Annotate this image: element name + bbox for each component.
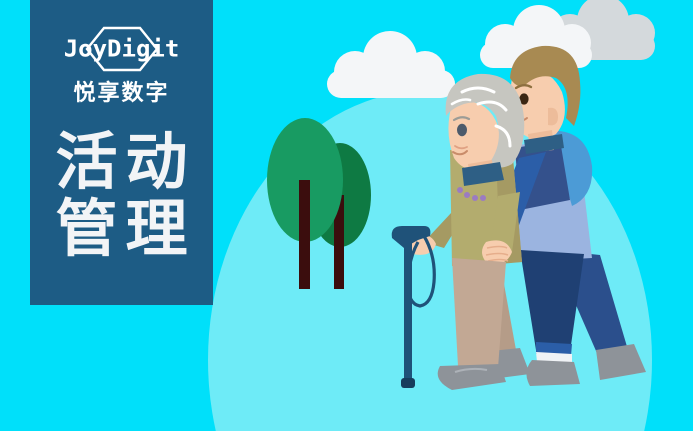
headline: 活动 管理: [47, 130, 195, 262]
logo-sub-brand: 悦享数字: [73, 82, 169, 104]
headline-line-1: 活动: [47, 130, 195, 195]
brand-logo: JoyDigit 悦享数字: [30, 26, 213, 104]
man-near-shoe: [526, 360, 580, 386]
cane-tip: [401, 378, 415, 388]
poster-root: JoyDigit 悦享数字 活动 管理: [0, 0, 693, 431]
logo-mark: JoyDigit: [52, 26, 192, 72]
logo-wordmark: JoyDigit: [64, 38, 180, 61]
woman-near-leg: [452, 258, 506, 368]
title-banner: JoyDigit 悦享数字 活动 管理: [30, 0, 213, 305]
woman-eye: [457, 124, 467, 136]
cloud-left: [327, 31, 455, 98]
headline-line-2: 管理: [47, 197, 195, 262]
